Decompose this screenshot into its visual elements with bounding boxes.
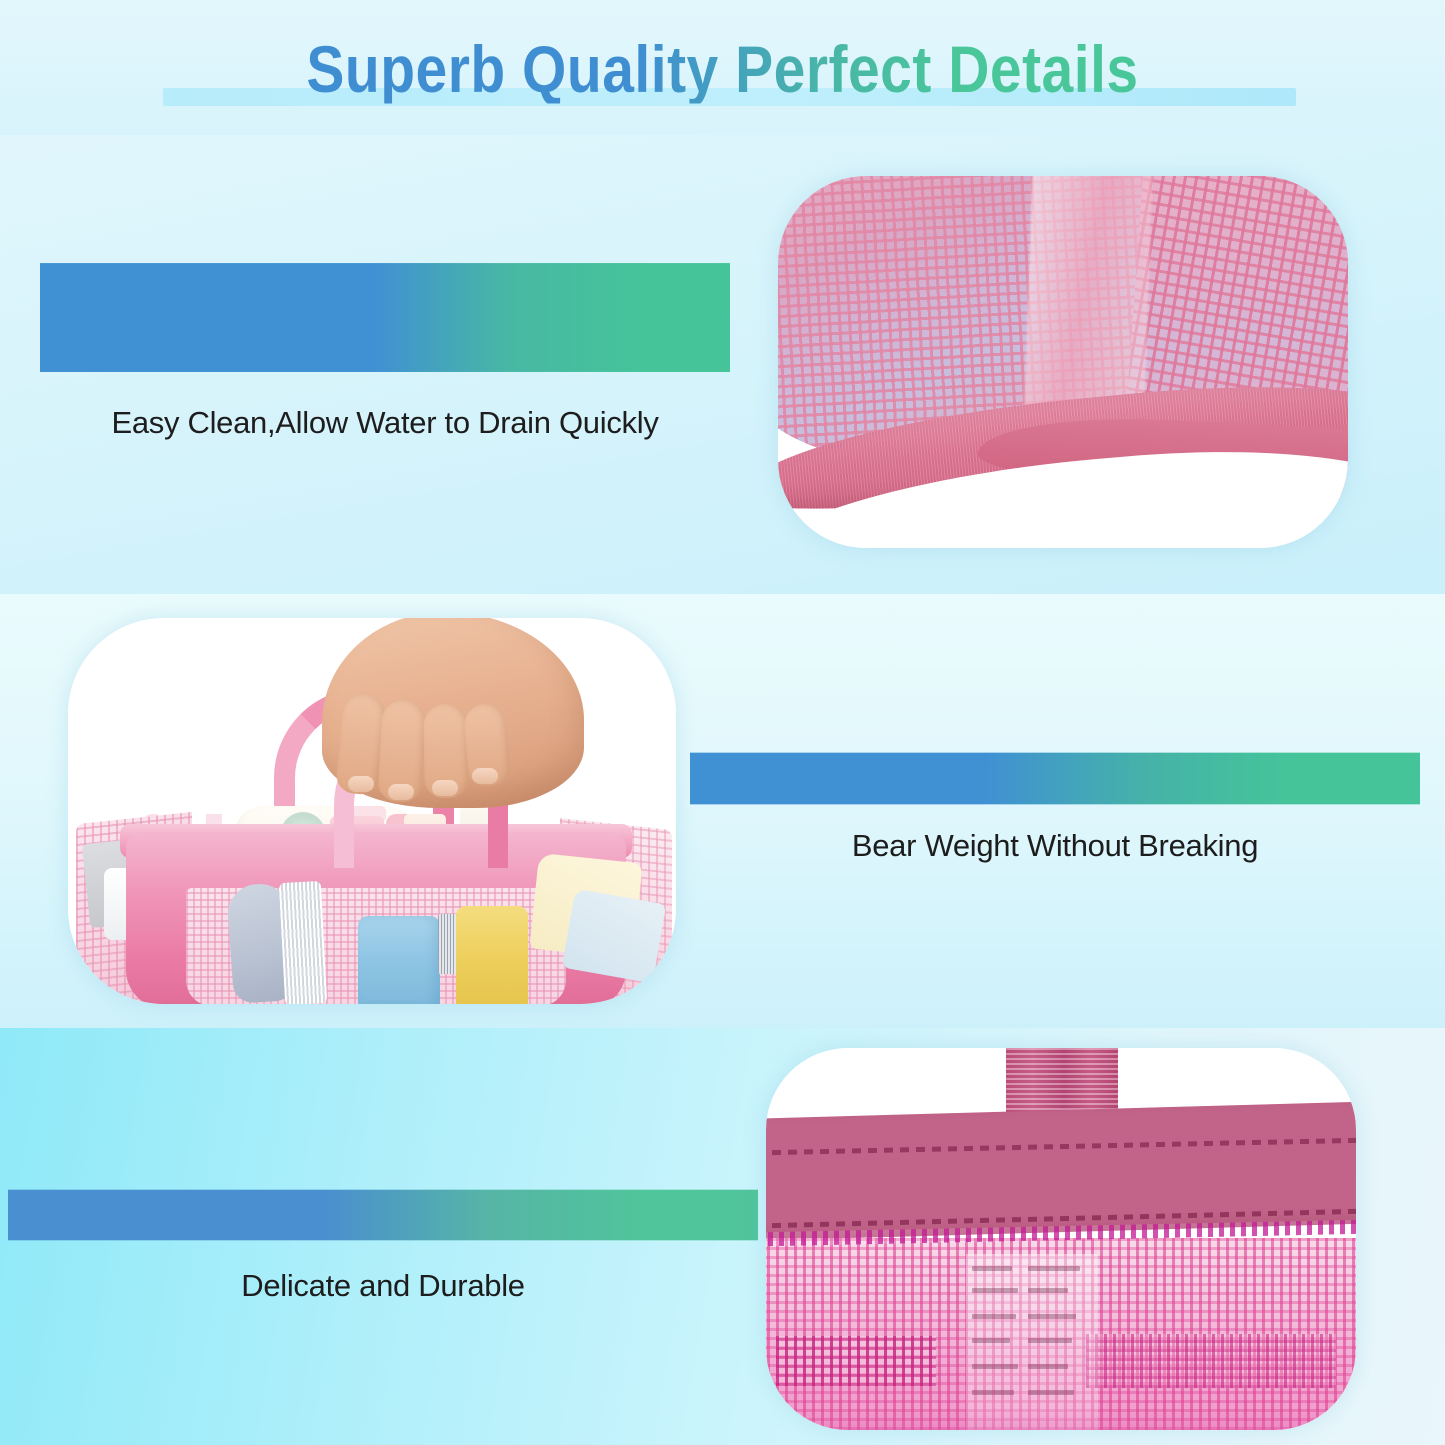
mesh-shadow-right	[1086, 1334, 1336, 1388]
fingernail-index	[348, 776, 374, 792]
feature-subtitle-sewing-workmanship: Delicate and Durable	[8, 1268, 758, 1304]
photo-sewing-workmanship	[766, 1048, 1356, 1430]
feature-text-sewing-workmanship: Exquisite Sewing Workmanship Delicate an…	[8, 1192, 758, 1304]
header-banner: Superb Quality Perfect Details	[0, 0, 1445, 135]
fingernail-ring	[432, 780, 458, 796]
feature-text-mesh-material: High-Quality Quick- Dry Mesh Material Ea…	[40, 268, 730, 441]
photo-strong-handle	[68, 618, 676, 1004]
photo-strong-handle-content	[68, 618, 676, 1004]
feature-heading-strong-handle: Reinforced Strong Handle	[690, 753, 1420, 805]
feature-heading-sewing-workmanship: Exquisite Sewing Workmanship	[8, 1190, 758, 1240]
grey-towel-right	[562, 889, 666, 984]
mesh-bottom-shading	[766, 1408, 1356, 1430]
brush-bristles	[279, 881, 327, 1004]
yellow-rolled-towel	[456, 906, 528, 1004]
feature-text-strong-handle: Reinforced Strong Handle Bear Weight Wit…	[690, 755, 1420, 864]
photo-mesh-material	[778, 176, 1348, 548]
care-label-text-lines	[972, 1262, 1092, 1430]
fingernail-little	[472, 768, 498, 784]
photo-sewing-workmanship-content	[766, 1048, 1356, 1430]
mesh-shadow-left	[776, 1336, 936, 1386]
infographic-page: Superb Quality Perfect Details High-Qual…	[0, 0, 1445, 1445]
feature-subtitle-mesh-material: Easy Clean,Allow Water to Drain Quickly	[40, 405, 730, 441]
page-title: Superb Quality Perfect Details	[306, 37, 1138, 103]
feature-heading-mesh-material: High-Quality Quick- Dry Mesh Material	[40, 263, 730, 371]
photo-mesh-material-content	[778, 176, 1348, 548]
feature-subtitle-strong-handle: Bear Weight Without Breaking	[690, 828, 1420, 864]
care-label	[966, 1254, 1098, 1430]
blue-rolled-towel	[358, 916, 440, 1004]
fingernail-middle	[388, 784, 414, 800]
